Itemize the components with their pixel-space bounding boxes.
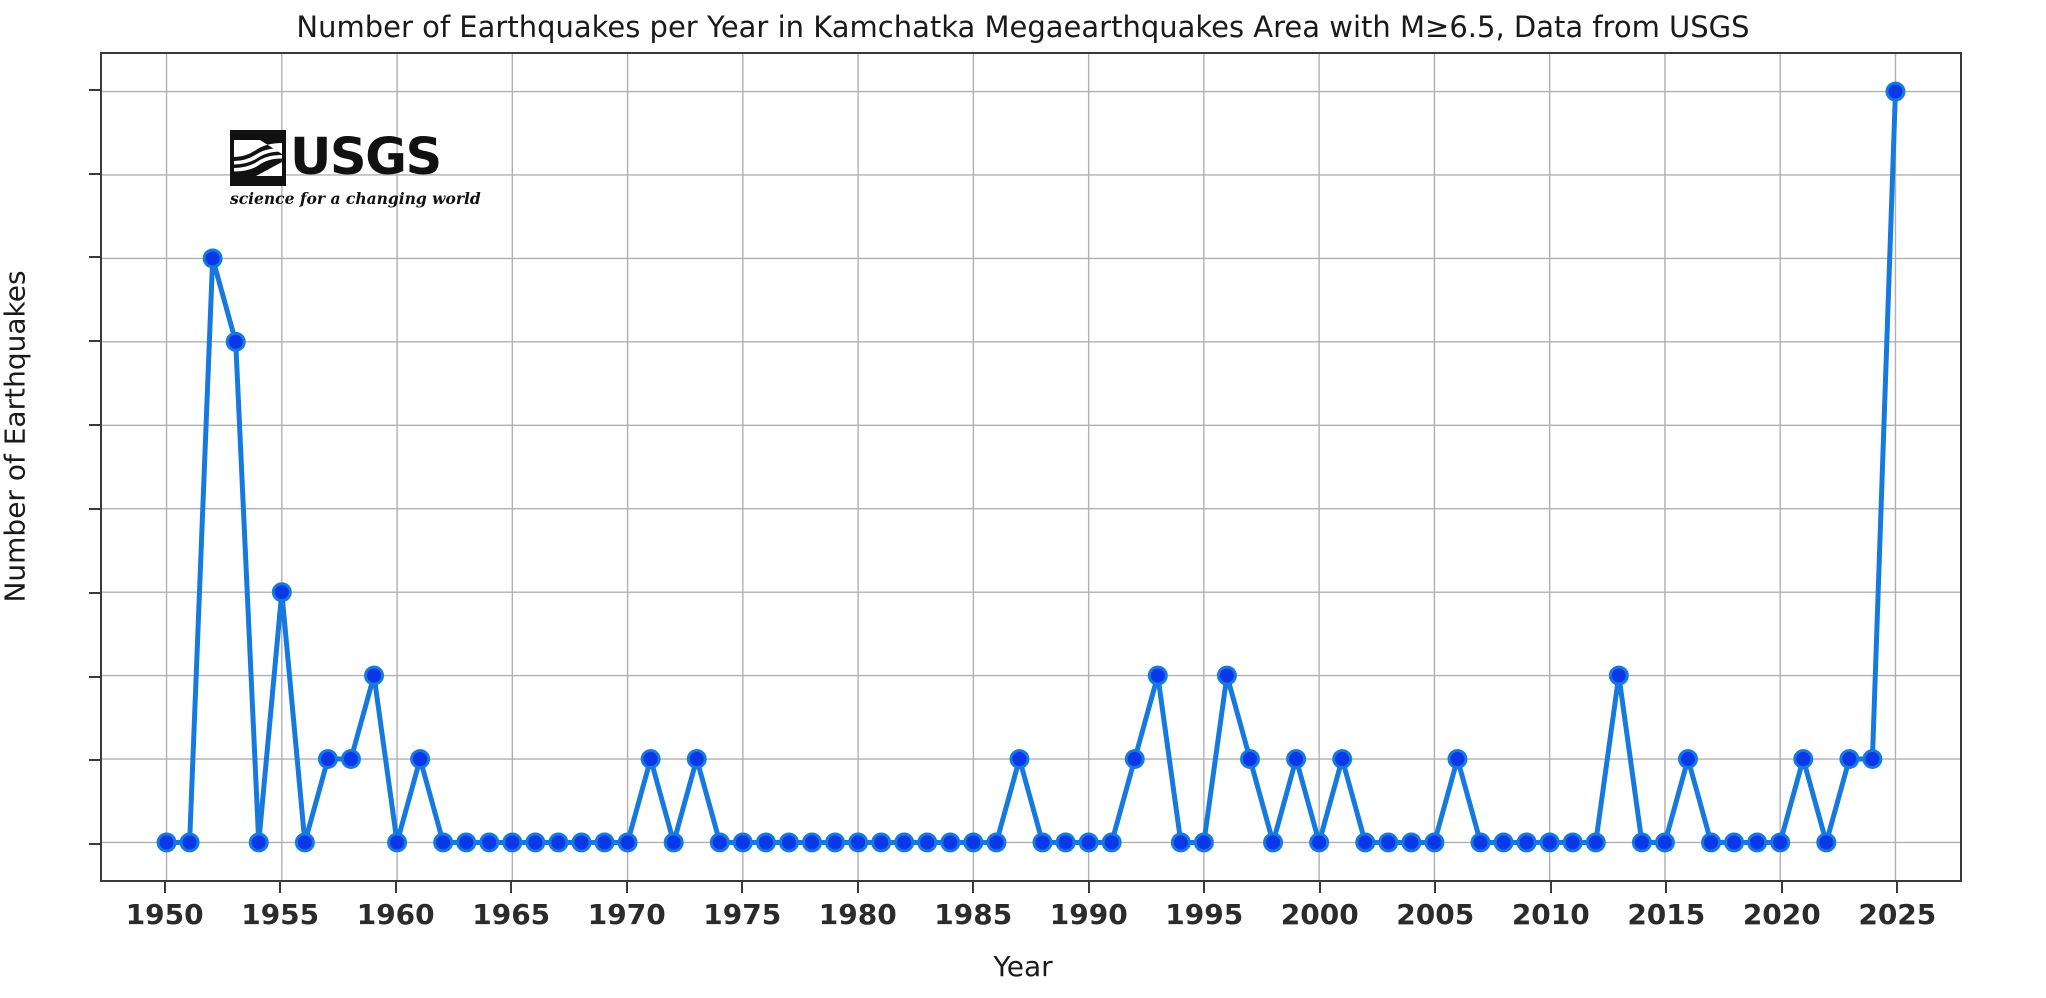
earthquake-line-chart-figure: Number of Earthquakes per Year in Kamcha… <box>0 0 2046 998</box>
x-tick-label: 1995 <box>1165 898 1243 931</box>
x-tick-label: 1985 <box>934 898 1012 931</box>
x-tick-label: 2010 <box>1512 898 1590 931</box>
x-tick-mark <box>1434 882 1436 893</box>
x-tick-label: 2005 <box>1396 898 1474 931</box>
x-tick-label: 1970 <box>588 898 666 931</box>
x-tick-label: 2025 <box>1858 898 1936 931</box>
x-tick-mark <box>164 882 166 893</box>
x-tick-label: 1980 <box>819 898 897 931</box>
x-tick-label: 1965 <box>472 898 550 931</box>
x-tick-mark <box>279 882 281 893</box>
x-axis-ticks: 1950195519601965197019751980198519901995… <box>0 0 2046 998</box>
x-tick-label: 1960 <box>357 898 435 931</box>
x-tick-mark <box>1319 882 1321 893</box>
x-tick-mark <box>1781 882 1783 893</box>
x-axis-label: Year <box>0 950 2046 983</box>
x-tick-mark <box>1896 882 1898 893</box>
x-tick-mark <box>395 882 397 893</box>
x-tick-mark <box>1550 882 1552 893</box>
x-tick-mark <box>972 882 974 893</box>
x-tick-label: 1990 <box>1050 898 1128 931</box>
x-tick-label: 1950 <box>126 898 204 931</box>
x-tick-label: 2015 <box>1627 898 1705 931</box>
x-tick-mark <box>1088 882 1090 893</box>
x-tick-mark <box>1665 882 1667 893</box>
x-tick-label: 1975 <box>703 898 781 931</box>
x-tick-label: 2020 <box>1743 898 1821 931</box>
x-tick-mark <box>510 882 512 893</box>
x-tick-label: 1955 <box>241 898 319 931</box>
x-tick-label: 2000 <box>1281 898 1359 931</box>
x-tick-mark <box>857 882 859 893</box>
x-tick-mark <box>741 882 743 893</box>
x-tick-mark <box>1203 882 1205 893</box>
x-tick-mark <box>626 882 628 893</box>
